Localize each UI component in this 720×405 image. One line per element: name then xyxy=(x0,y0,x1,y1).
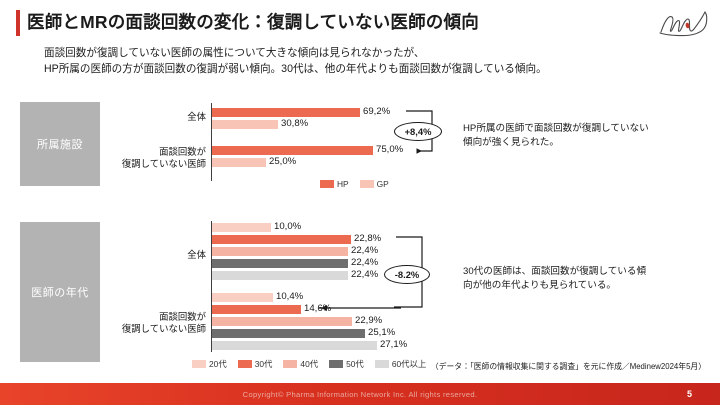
legend-label-20s: 20代 xyxy=(209,358,227,370)
bar-value-age-60s-notrecovered: 27,1% xyxy=(380,339,407,350)
bar-age-60s-zentai xyxy=(212,271,348,280)
bar-value-age-60s-zentai: 22,4% xyxy=(351,269,378,280)
chart-age-legend: 20代 30代 40代 50代 60代以上 xyxy=(192,358,433,370)
bar-facility-hp-notrecovered xyxy=(212,146,373,155)
legend-label-60s: 60代以上 xyxy=(392,358,426,370)
legend-swatch-20s xyxy=(192,360,206,368)
legend-label-40s: 40代 xyxy=(300,358,318,370)
subtitle: 面談回数が復調していない医師の属性について大きな傾向は見られなかったが、 HP所… xyxy=(44,46,674,77)
bar-age-40s-zentai xyxy=(212,247,348,256)
chart-age-cat-label-1: 面談回数が 復調していない医師 xyxy=(100,311,206,334)
cat-label-line-2: 復調していない医師 xyxy=(100,158,206,170)
subtitle-line-1: 面談回数が復調していない医師の属性について大きな傾向は見られなかったが、 xyxy=(44,46,674,62)
note-facility-line-2: 傾向が強く見られた。 xyxy=(463,136,693,150)
bar-value-age-40s-notrecovered: 22,9% xyxy=(355,315,382,326)
chart-facility-legend: HP GP xyxy=(320,179,396,189)
bar-facility-gp-zentai xyxy=(212,120,278,129)
bar-facility-hp-zentai xyxy=(212,108,360,117)
cat-label-line-2: 復調していない医師 xyxy=(100,323,206,335)
bar-value-facility-hp-notrecovered: 75,0% xyxy=(376,144,403,155)
bar-age-20s-zentai xyxy=(212,223,271,232)
bar-value-age-50s-notrecovered: 25,1% xyxy=(368,327,395,338)
legend-swatch-40s xyxy=(283,360,297,368)
legend-swatch-30s xyxy=(238,360,252,368)
chart-facility-callout-badge: +8,4% xyxy=(394,122,442,141)
footer-copyright: Copyright© Pharma Information Network In… xyxy=(0,383,720,405)
note-facility-line-1: HP所属の医師で面談回数が復調していない xyxy=(463,122,693,136)
bar-value-age-40s-zentai: 22,4% xyxy=(351,245,378,256)
legend-item-50s: 50代 xyxy=(329,358,364,370)
bar-value-facility-gp-zentai: 30,8% xyxy=(281,118,308,129)
footer-page-number: 5 xyxy=(687,383,692,405)
legend-swatch-gp xyxy=(360,180,374,188)
bar-value-age-30s-zentai: 22,8% xyxy=(354,233,381,244)
bar-facility-gp-notrecovered xyxy=(212,158,266,167)
bar-age-30s-notrecovered xyxy=(212,305,301,314)
title-accent-bar xyxy=(16,10,20,36)
bar-age-60s-notrecovered xyxy=(212,341,377,350)
note-age: 30代の医師は、面談回数が復調している傾 向が他の年代よりも見られている。 xyxy=(463,265,698,293)
legend-item-60s: 60代以上 xyxy=(375,358,426,370)
legend-swatch-hp xyxy=(320,180,334,188)
legend-swatch-50s xyxy=(329,360,343,368)
legend-label-50s: 50代 xyxy=(346,358,364,370)
bar-value-age-50s-zentai: 22,4% xyxy=(351,257,378,268)
chart-age: 全体 面談回数が 復調していない医師 10,0% 22,8% 22,4% 22,… xyxy=(0,215,460,375)
legend-item-hp: HP xyxy=(320,179,349,189)
chart-age-cat-label-0: 全体 xyxy=(100,249,206,261)
source-note: （データ：「医師の情報収集に関する調査」を元に作成／Medinew2024年5月… xyxy=(431,361,706,372)
page-title: 医師とMRの面談回数の変化：復調していない医師の傾向 xyxy=(27,9,479,34)
legend-swatch-60s xyxy=(375,360,389,368)
bar-age-50s-zentai xyxy=(212,259,348,268)
legend-item-30s: 30代 xyxy=(238,358,273,370)
chart-facility-cat-label-1: 面談回数が 復調していない医師 xyxy=(100,146,206,169)
note-facility: HP所属の医師で面談回数が復調していない 傾向が強く見られた。 xyxy=(463,122,693,150)
bar-age-50s-notrecovered xyxy=(212,329,365,338)
note-age-line-1: 30代の医師は、面談回数が復調している傾 xyxy=(463,265,698,279)
bar-value-age-20s-zentai: 10,0% xyxy=(274,221,301,232)
legend-label-gp: GP xyxy=(377,179,389,189)
bar-value-age-20s-notrecovered: 10,4% xyxy=(276,291,303,302)
bar-value-facility-gp-notrecovered: 25,0% xyxy=(269,156,296,167)
chart-age-callout-badge: -8.2% xyxy=(384,265,430,284)
subtitle-line-2: HP所属の医師の方が面談回数の復調が弱い傾向。30代は、他の年代よりも面談回数が… xyxy=(44,62,674,78)
bar-age-30s-zentai xyxy=(212,235,351,244)
chart-facility: 全体 面談回数が 復調していない医師 69,2% 30,8% 75,0% 25,… xyxy=(0,95,460,195)
legend-item-gp: GP xyxy=(360,179,389,189)
cat-label-line-1: 面談回数が xyxy=(100,311,206,323)
legend-label-30s: 30代 xyxy=(255,358,273,370)
note-age-line-2: 向が他の年代よりも見られている。 xyxy=(463,279,698,293)
bar-value-facility-hp-zentai: 69,2% xyxy=(363,106,390,117)
legend-label-hp: HP xyxy=(337,179,349,189)
bar-age-20s-notrecovered xyxy=(212,293,273,302)
slide: 医師とMRの面談回数の変化：復調していない医師の傾向 面談回数が復調していない医… xyxy=(0,0,720,405)
legend-item-20s: 20代 xyxy=(192,358,227,370)
legend-item-40s: 40代 xyxy=(283,358,318,370)
chart-age-callout-arrow xyxy=(305,301,405,315)
handwritten-signature-logo xyxy=(658,6,710,40)
bar-age-40s-notrecovered xyxy=(212,317,352,326)
cat-label-line-1: 面談回数が xyxy=(100,146,206,158)
footer-bar: Copyright© Pharma Information Network In… xyxy=(0,383,720,405)
chart-facility-cat-label-0: 全体 xyxy=(100,111,206,123)
